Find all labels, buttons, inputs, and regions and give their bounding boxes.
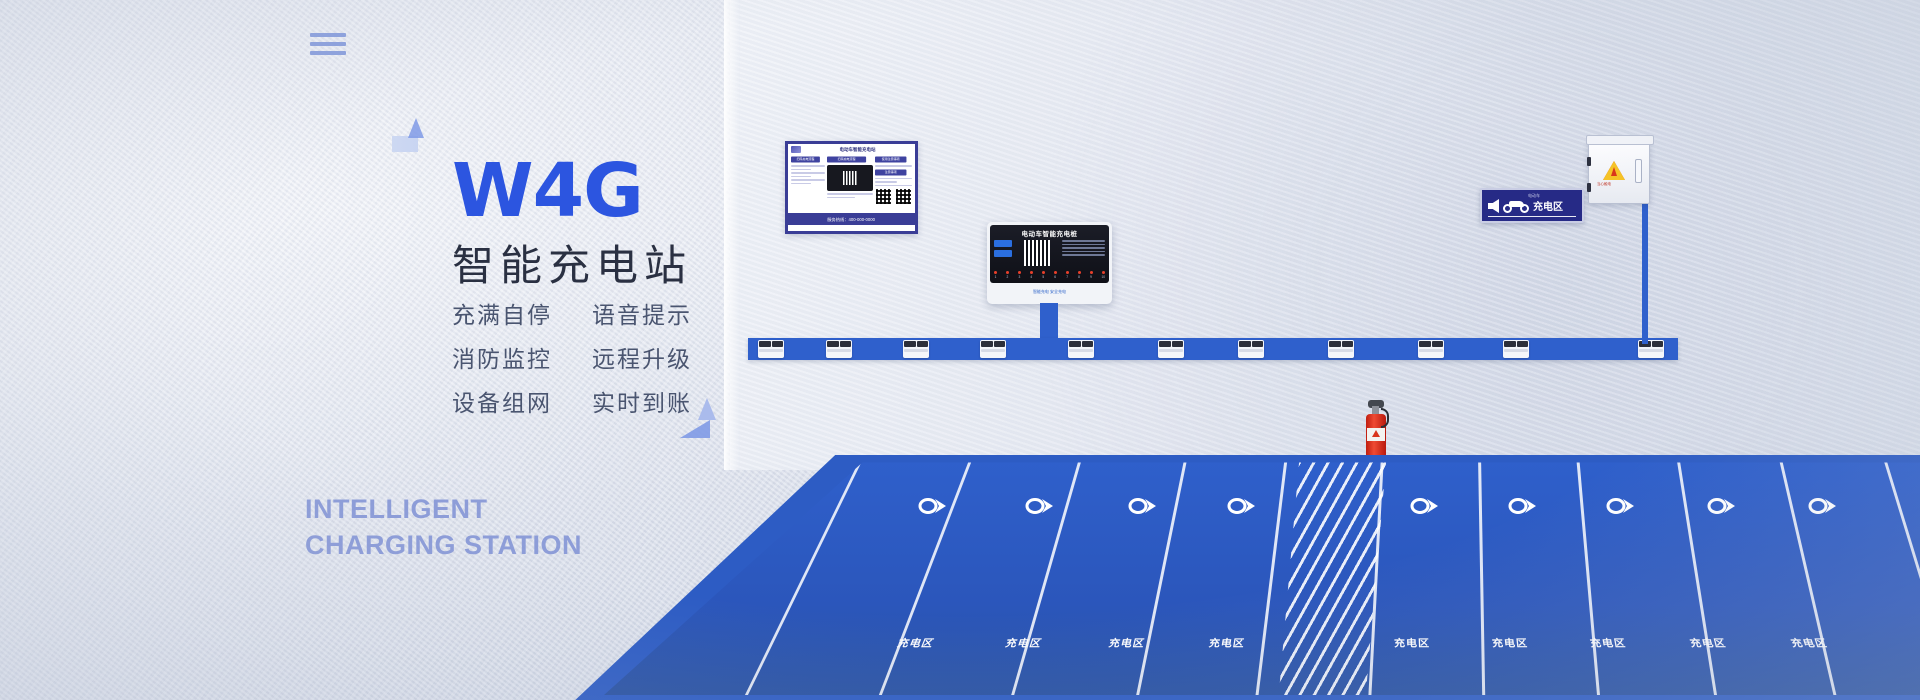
hero-banner: 电动车智能充电站 扫码充电流程 扫码充电流程 使用注意事项 注意事项 [0, 0, 1920, 700]
